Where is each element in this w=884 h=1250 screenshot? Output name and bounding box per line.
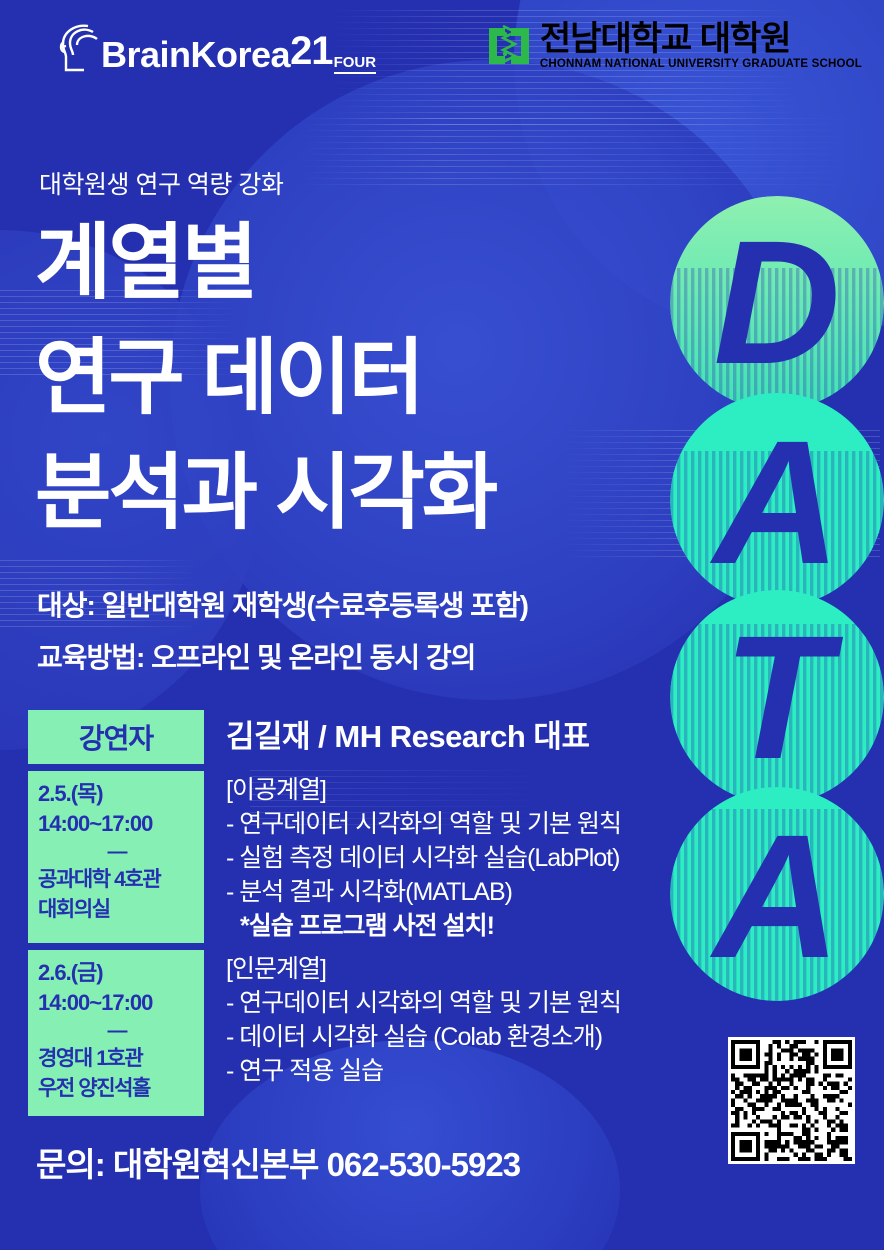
session-2-venue-line-2: 우전 양진석홀 — [38, 1074, 204, 1104]
poster-header: BrainKorea 21 FOUR 전남대학교 대학원 CHONNAM NAT… — [0, 0, 884, 95]
title-line-1: 계열별 — [35, 205, 695, 320]
session-1-item-1: - 연구데이터 시각화의 역할 및 기본 원칙 — [226, 807, 621, 841]
brainkorea21-logo: BrainKorea 21 FOUR — [57, 22, 376, 74]
session-2-venue-line-1: 경영대 1호관 — [38, 1044, 204, 1074]
poster-eyebrow: 대학원생 연구 역량 강화 — [39, 165, 283, 201]
speaker-value: 김길재 / MH Research 대표 — [204, 710, 589, 764]
session-2-separator: — — [38, 1018, 204, 1044]
data-letter-d: D — [670, 196, 884, 410]
svg-text:D: D — [713, 205, 840, 401]
session-2-content: [인문계열] - 연구데이터 시각화의 역할 및 기본 원칙 - 데이터 시각화… — [204, 950, 621, 1116]
session-1-item-2: - 실험 측정 데이터 시각화 실습(LabPlot) — [226, 841, 621, 875]
cnu-emblem-icon — [485, 22, 533, 70]
session-2-item-3: - 연구 적용 실습 — [226, 1054, 621, 1088]
session-1-note: *실습 프로그램 사전 설치! — [226, 909, 621, 943]
session-1-item-3: - 분석 결과 시각화(MATLAB) — [226, 875, 621, 909]
brainkorea-21: 21 — [290, 29, 333, 74]
meta-method: 교육방법: 오프라인 및 온라인 동시 강의 — [37, 632, 528, 684]
poster-meta: 대상: 일반대학원 재학생(수료후등록생 포함) 교육방법: 오프라인 및 온라… — [37, 580, 528, 684]
qr-code-image — [731, 1040, 852, 1161]
session-1-track: [이공계열] — [226, 773, 621, 807]
cnu-korean-name: 전남대학교 대학원 — [540, 21, 862, 57]
title-line-3: 분석과 시각화 — [35, 435, 695, 550]
session-1-separator: — — [38, 839, 204, 865]
speaker-label: 강연자 — [28, 710, 204, 764]
session-2-date: 2.6.(금) — [38, 958, 204, 988]
session-1-content: [이공계열] - 연구데이터 시각화의 역할 및 기본 원칙 - 실험 측정 데… — [204, 771, 621, 943]
qr-code[interactable] — [728, 1037, 855, 1164]
session-1-when-where: 2.5.(목) 14:00~17:00 — 공과대학 4호관 대회의실 — [28, 771, 204, 943]
session-1-time: 14:00~17:00 — [38, 809, 204, 839]
session-2-time: 14:00~17:00 — [38, 988, 204, 1018]
session-2-item-2: - 데이터 시각화 실습 (Colab 환경소개) — [226, 1020, 621, 1054]
svg-text:A: A — [709, 405, 840, 601]
session-1-venue-line-1: 공과대학 4호관 — [38, 865, 204, 895]
data-letter-a1: A — [670, 393, 884, 607]
brainkorea-wordmark: BrainKorea — [101, 36, 290, 74]
poster-title: 계열별 연구 데이터 분석과 시각화 — [35, 205, 695, 550]
speaker-row: 강연자 김길재 / MH Research 대표 — [28, 710, 868, 764]
cnu-text: 전남대학교 대학원 CHONNAM NATIONAL UNIVERSITY GR… — [540, 21, 862, 71]
bg-hairlines-2 — [300, 118, 860, 188]
session-2-when-where: 2.6.(금) 14:00~17:00 — 경영대 1호관 우전 양진석홀 — [28, 950, 204, 1116]
meta-audience: 대상: 일반대학원 재학생(수료후등록생 포함) — [37, 580, 528, 632]
session-1-venue-line-2: 대회의실 — [38, 895, 204, 925]
cnu-english-name: CHONNAM NATIONAL UNIVERSITY GRADUATE SCH… — [540, 58, 862, 71]
contact-line: 문의: 대학원혁신본부 062-530-5923 — [36, 1138, 520, 1186]
brainkorea-four: FOUR — [334, 54, 377, 74]
brain-head-icon — [57, 22, 99, 74]
session-2-item-1: - 연구데이터 시각화의 역할 및 기본 원칙 — [226, 986, 621, 1020]
session-2-track: [인문계열] — [226, 952, 621, 986]
poster-canvas: D A — [0, 0, 884, 1250]
session-1-date: 2.5.(목) — [38, 779, 204, 809]
cnu-graduate-school-logo: 전남대학교 대학원 CHONNAM NATIONAL UNIVERSITY GR… — [485, 21, 862, 71]
session-row-1: 2.5.(목) 14:00~17:00 — 공과대학 4호관 대회의실 [이공계… — [28, 771, 868, 943]
title-line-2: 연구 데이터 — [35, 320, 695, 435]
